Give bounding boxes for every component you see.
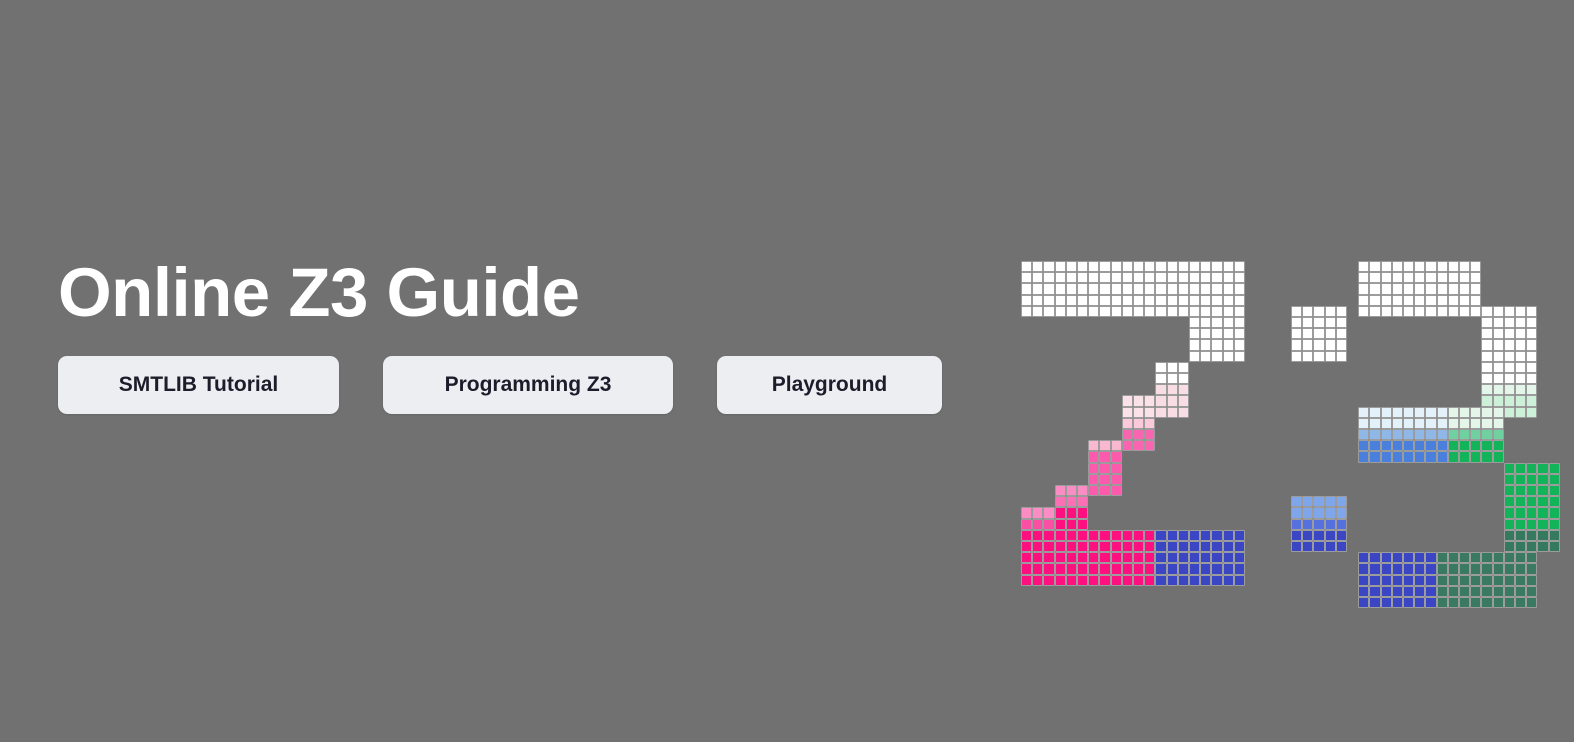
logo-pixel-cell <box>1133 541 1144 552</box>
logo-pixel-cell <box>1493 384 1504 395</box>
logo-pixel-cell <box>1459 597 1470 608</box>
logo-pixel-cell <box>1358 407 1369 418</box>
logo-pixel-cell <box>1178 530 1189 541</box>
logo-pixel-cell <box>1481 440 1492 451</box>
logo-pixel-cell <box>1167 563 1178 574</box>
logo-pixel-cell <box>1200 328 1211 339</box>
logo-pixel-cell <box>1459 261 1470 272</box>
logo-pixel-cell <box>1369 597 1380 608</box>
logo-pixel-cell <box>1021 272 1032 283</box>
logo-pixel-cell <box>1021 575 1032 586</box>
logo-pixel-cell <box>1526 597 1537 608</box>
logo-pixel-cell <box>1448 295 1459 306</box>
logo-pixel-cell <box>1437 451 1448 462</box>
logo-pixel-cell <box>1021 519 1032 530</box>
smtlib-tutorial-button[interactable]: SMTLIB Tutorial <box>58 356 339 414</box>
logo-pixel-cell <box>1470 451 1481 462</box>
logo-pixel-cell <box>1403 575 1414 586</box>
logo-pixel-cell <box>1077 295 1088 306</box>
logo-pixel-cell <box>1493 418 1504 429</box>
logo-pixel-cell <box>1459 283 1470 294</box>
logo-pixel-cell <box>1392 597 1403 608</box>
logo-pixel-cell <box>1178 306 1189 317</box>
logo-pixel-cell <box>1099 440 1110 451</box>
logo-pixel-cell <box>1448 552 1459 563</box>
logo-pixel-cell <box>1515 496 1526 507</box>
logo-pixel-cell <box>1032 563 1043 574</box>
logo-pixel-cell <box>1066 306 1077 317</box>
logo-pixel-cell <box>1043 283 1054 294</box>
logo-pixel-cell <box>1144 429 1155 440</box>
logo-pixel-cell <box>1336 530 1347 541</box>
logo-pixel-cell <box>1066 295 1077 306</box>
logo-pixel-cell <box>1099 272 1110 283</box>
logo-pixel-cell <box>1223 317 1234 328</box>
logo-pixel-cell <box>1437 283 1448 294</box>
logo-pixel-cell <box>1515 485 1526 496</box>
logo-pixel-cell <box>1414 407 1425 418</box>
logo-pixel-cell <box>1111 306 1122 317</box>
logo-pixel-cell <box>1470 440 1481 451</box>
logo-pixel-cell <box>1189 530 1200 541</box>
logo-pixel-cell <box>1481 384 1492 395</box>
logo-pixel-cell <box>1234 295 1245 306</box>
logo-pixel-cell <box>1325 530 1336 541</box>
logo-pixel-cell <box>1414 295 1425 306</box>
logo-pixel-cell <box>1537 530 1548 541</box>
logo-pixel-cell <box>1526 563 1537 574</box>
logo-pixel-cell <box>1032 283 1043 294</box>
logo-pixel-cell <box>1099 451 1110 462</box>
logo-pixel-cell <box>1291 351 1302 362</box>
logo-pixel-cell <box>1155 295 1166 306</box>
logo-pixel-cell <box>1549 496 1560 507</box>
logo-pixel-cell <box>1504 384 1515 395</box>
logo-pixel-cell <box>1425 451 1436 462</box>
logo-pixel-cell <box>1021 306 1032 317</box>
logo-pixel-cell <box>1526 485 1537 496</box>
logo-pixel-cell <box>1403 451 1414 462</box>
logo-pixel-cell <box>1313 541 1324 552</box>
logo-pixel-cell <box>1178 373 1189 384</box>
logo-pixel-cell <box>1470 295 1481 306</box>
logo-pixel-cell <box>1291 328 1302 339</box>
logo-pixel-cell <box>1167 395 1178 406</box>
logo-pixel-cell <box>1526 586 1537 597</box>
logo-pixel-cell <box>1493 597 1504 608</box>
logo-pixel-cell <box>1313 339 1324 350</box>
logo-pixel-cell <box>1088 485 1099 496</box>
logo-pixel-cell <box>1459 440 1470 451</box>
logo-pixel-cell <box>1493 440 1504 451</box>
logo-pixel-cell <box>1313 530 1324 541</box>
logo-pixel-cell <box>1448 272 1459 283</box>
logo-pixel-cell <box>1211 351 1222 362</box>
logo-pixel-cell <box>1504 575 1515 586</box>
logo-pixel-cell <box>1493 451 1504 462</box>
logo-pixel-cell <box>1122 306 1133 317</box>
logo-pixel-cell <box>1302 306 1313 317</box>
logo-pixel-cell <box>1313 351 1324 362</box>
logo-pixel-cell <box>1369 451 1380 462</box>
logo-pixel-cell <box>1414 261 1425 272</box>
logo-pixel-cell <box>1504 485 1515 496</box>
logo-pixel-cell <box>1437 407 1448 418</box>
logo-pixel-cell <box>1358 418 1369 429</box>
logo-pixel-cell <box>1437 295 1448 306</box>
logo-pixel-cell <box>1291 496 1302 507</box>
logo-pixel-cell <box>1369 586 1380 597</box>
logo-pixel-cell <box>1358 295 1369 306</box>
logo-pixel-cell <box>1066 507 1077 518</box>
logo-pixel-cell <box>1448 418 1459 429</box>
logo-pixel-cell <box>1459 306 1470 317</box>
logo-pixel-cell <box>1122 541 1133 552</box>
logo-pixel-cell <box>1381 295 1392 306</box>
logo-pixel-cell <box>1358 440 1369 451</box>
logo-pixel-cell <box>1515 339 1526 350</box>
logo-pixel-cell <box>1369 575 1380 586</box>
logo-pixel-cell <box>1369 407 1380 418</box>
logo-pixel-cell <box>1077 519 1088 530</box>
logo-pixel-cell <box>1403 272 1414 283</box>
logo-pixel-cell <box>1032 272 1043 283</box>
logo-pixel-cell <box>1481 429 1492 440</box>
logo-pixel-cell <box>1414 586 1425 597</box>
logo-pixel-cell <box>1470 586 1481 597</box>
logo-pixel-cell <box>1099 541 1110 552</box>
logo-pixel-cell <box>1336 541 1347 552</box>
logo-pixel-cell <box>1526 541 1537 552</box>
logo-pixel-cell <box>1504 463 1515 474</box>
logo-pixel-cell <box>1504 339 1515 350</box>
logo-pixel-cell <box>1549 507 1560 518</box>
logo-pixel-cell <box>1336 306 1347 317</box>
logo-pixel-cell <box>1088 474 1099 485</box>
logo-pixel-cell <box>1470 429 1481 440</box>
logo-pixel-cell <box>1200 530 1211 541</box>
logo-pixel-cell <box>1133 563 1144 574</box>
logo-pixel-cell <box>1504 351 1515 362</box>
logo-pixel-cell <box>1493 362 1504 373</box>
logo-pixel-cell <box>1099 485 1110 496</box>
logo-pixel-cell <box>1549 541 1560 552</box>
logo-pixel-cell <box>1549 485 1560 496</box>
logo-pixel-cell <box>1302 328 1313 339</box>
logo-pixel-cell <box>1392 283 1403 294</box>
logo-pixel-cell <box>1437 429 1448 440</box>
logo-pixel-cell <box>1178 541 1189 552</box>
logo-pixel-cell <box>1526 530 1537 541</box>
logo-pixel-cell <box>1481 317 1492 328</box>
logo-pixel-cell <box>1381 418 1392 429</box>
logo-pixel-cell <box>1448 451 1459 462</box>
logo-pixel-cell <box>1381 451 1392 462</box>
logo-pixel-cell <box>1133 272 1144 283</box>
logo-pixel-cell <box>1077 530 1088 541</box>
logo-pixel-cell <box>1032 530 1043 541</box>
logo-pixel-cell <box>1392 418 1403 429</box>
logo-pixel-cell <box>1358 306 1369 317</box>
logo-pixel-cell <box>1189 295 1200 306</box>
logo-pixel-cell <box>1099 295 1110 306</box>
logo-pixel-cell <box>1111 563 1122 574</box>
logo-pixel-cell <box>1459 586 1470 597</box>
logo-pixel-cell <box>1155 552 1166 563</box>
logo-pixel-cell <box>1043 575 1054 586</box>
logo-pixel-cell <box>1358 563 1369 574</box>
logo-pixel-cell <box>1526 496 1537 507</box>
logo-pixel-cell <box>1537 519 1548 530</box>
logo-pixel-cell <box>1043 530 1054 541</box>
logo-pixel-cell <box>1437 597 1448 608</box>
logo-pixel-cell <box>1088 463 1099 474</box>
logo-pixel-cell <box>1055 575 1066 586</box>
logo-pixel-cell <box>1055 563 1066 574</box>
logo-pixel-cell <box>1234 328 1245 339</box>
logo-pixel-cell <box>1189 339 1200 350</box>
logo-pixel-cell <box>1481 395 1492 406</box>
logo-pixel-cell <box>1515 328 1526 339</box>
logo-pixel-cell <box>1291 507 1302 518</box>
logo-pixel-cell <box>1032 575 1043 586</box>
logo-pixel-cell <box>1066 261 1077 272</box>
logo-pixel-cell <box>1369 306 1380 317</box>
logo-pixel-cell <box>1470 597 1481 608</box>
logo-pixel-cell <box>1403 440 1414 451</box>
logo-pixel-cell <box>1055 261 1066 272</box>
logo-pixel-cell <box>1381 597 1392 608</box>
logo-pixel-cell <box>1234 575 1245 586</box>
logo-pixel-cell <box>1369 418 1380 429</box>
logo-pixel-cell <box>1526 575 1537 586</box>
logo-pixel-cell <box>1043 507 1054 518</box>
logo-pixel-cell <box>1381 272 1392 283</box>
logo-pixel-cell <box>1526 351 1537 362</box>
logo-pixel-cell <box>1178 384 1189 395</box>
logo-pixel-cell <box>1325 328 1336 339</box>
logo-pixel-cell <box>1437 272 1448 283</box>
logo-pixel-cell <box>1021 541 1032 552</box>
logo-pixel-cell <box>1493 351 1504 362</box>
logo-pixel-cell <box>1111 474 1122 485</box>
logo-pixel-cell <box>1302 530 1313 541</box>
logo-pixel-cell <box>1504 496 1515 507</box>
logo-pixel-cell <box>1155 261 1166 272</box>
logo-pixel-cell <box>1481 597 1492 608</box>
logo-pixel-cell <box>1425 272 1436 283</box>
logo-pixel-cell <box>1189 317 1200 328</box>
logo-pixel-cell <box>1223 261 1234 272</box>
logo-pixel-cell <box>1111 283 1122 294</box>
logo-pixel-cell <box>1122 407 1133 418</box>
page-title: Online Z3 Guide <box>58 258 978 327</box>
logo-pixel-cell <box>1504 474 1515 485</box>
logo-pixel-cell <box>1167 552 1178 563</box>
logo-pixel-cell <box>1200 541 1211 552</box>
logo-pixel-cell <box>1077 306 1088 317</box>
programming-z3-button[interactable]: Programming Z3 <box>383 356 673 414</box>
logo-pixel-cell <box>1515 373 1526 384</box>
logo-pixel-cell <box>1425 295 1436 306</box>
logo-pixel-cell <box>1425 306 1436 317</box>
logo-pixel-cell <box>1437 586 1448 597</box>
playground-button[interactable]: Playground <box>717 356 942 414</box>
logo-pixel-cell <box>1302 317 1313 328</box>
logo-pixel-cell <box>1425 586 1436 597</box>
logo-pixel-cell <box>1133 407 1144 418</box>
logo-pixel-cell <box>1437 261 1448 272</box>
logo-pixel-cell <box>1043 306 1054 317</box>
logo-pixel-cell <box>1448 261 1459 272</box>
logo-pixel-cell <box>1515 384 1526 395</box>
logo-pixel-cell <box>1392 429 1403 440</box>
logo-pixel-cell <box>1414 429 1425 440</box>
logo-pixel-cell <box>1111 272 1122 283</box>
logo-pixel-cell <box>1055 530 1066 541</box>
logo-pixel-cell <box>1336 507 1347 518</box>
logo-pixel-cell <box>1178 552 1189 563</box>
logo-pixel-cell <box>1459 575 1470 586</box>
logo-pixel-cell <box>1392 552 1403 563</box>
logo-pixel-cell <box>1493 373 1504 384</box>
logo-pixel-cell <box>1077 563 1088 574</box>
logo-pixel-cell <box>1392 575 1403 586</box>
logo-pixel-cell <box>1425 407 1436 418</box>
logo-pixel-cell <box>1403 586 1414 597</box>
logo-pixel-cell <box>1167 575 1178 586</box>
logo-pixel-cell <box>1325 507 1336 518</box>
logo-pixel-cell <box>1481 586 1492 597</box>
logo-pixel-cell <box>1211 530 1222 541</box>
logo-pixel-cell <box>1481 552 1492 563</box>
logo-pixel-cell <box>1369 563 1380 574</box>
logo-pixel-cell <box>1122 530 1133 541</box>
logo-pixel-cell <box>1325 339 1336 350</box>
logo-pixel-cell <box>1313 328 1324 339</box>
logo-pixel-cell <box>1111 575 1122 586</box>
logo-pixel-cell <box>1470 418 1481 429</box>
logo-pixel-cell <box>1448 597 1459 608</box>
logo-pixel-cell <box>1189 552 1200 563</box>
logo-pixel-cell <box>1369 295 1380 306</box>
logo-pixel-cell <box>1211 295 1222 306</box>
logo-pixel-cell <box>1403 552 1414 563</box>
logo-pixel-cell <box>1167 373 1178 384</box>
logo-pixel-cell <box>1088 575 1099 586</box>
logo-pixel-cell <box>1403 429 1414 440</box>
logo-pixel-cell <box>1504 306 1515 317</box>
logo-pixel-cell <box>1403 295 1414 306</box>
logo-pixel-cell <box>1403 306 1414 317</box>
logo-pixel-cell <box>1414 552 1425 563</box>
logo-pixel-cell <box>1055 541 1066 552</box>
logo-pixel-cell <box>1133 283 1144 294</box>
logo-pixel-cell <box>1504 597 1515 608</box>
logo-pixel-cell <box>1526 317 1537 328</box>
logo-pixel-cell <box>1425 261 1436 272</box>
logo-pixel-cell <box>1122 395 1133 406</box>
logo-pixel-cell <box>1122 563 1133 574</box>
logo-pixel-cell <box>1099 552 1110 563</box>
logo-pixel-cell <box>1155 395 1166 406</box>
logo-pixel-cell <box>1189 575 1200 586</box>
logo-pixel-cell <box>1155 575 1166 586</box>
logo-pixel-cell <box>1504 373 1515 384</box>
logo-pixel-cell <box>1144 272 1155 283</box>
logo-pixel-cell <box>1189 541 1200 552</box>
logo-pixel-cell <box>1313 317 1324 328</box>
logo-pixel-cell <box>1066 530 1077 541</box>
logo-pixel-cell <box>1133 395 1144 406</box>
logo-pixel-cell <box>1223 530 1234 541</box>
logo-pixel-cell <box>1358 586 1369 597</box>
logo-pixel-cell <box>1099 463 1110 474</box>
logo-pixel-cell <box>1122 429 1133 440</box>
logo-pixel-cell <box>1144 440 1155 451</box>
logo-pixel-cell <box>1133 440 1144 451</box>
logo-pixel-cell <box>1066 272 1077 283</box>
logo-pixel-cell <box>1392 261 1403 272</box>
logo-pixel-cell <box>1392 586 1403 597</box>
logo-pixel-cell <box>1437 575 1448 586</box>
logo-pixel-cell <box>1122 552 1133 563</box>
logo-pixel-cell <box>1200 552 1211 563</box>
logo-pixel-cell <box>1200 295 1211 306</box>
logo-pixel-cell <box>1515 463 1526 474</box>
logo-pixel-cell <box>1549 463 1560 474</box>
logo-pixel-cell <box>1481 373 1492 384</box>
logo-pixel-cell <box>1325 496 1336 507</box>
logo-pixel-cell <box>1392 563 1403 574</box>
logo-pixel-cell <box>1392 272 1403 283</box>
logo-pixel-cell <box>1504 395 1515 406</box>
logo-pixel-cell <box>1537 485 1548 496</box>
logo-pixel-cell <box>1189 261 1200 272</box>
logo-pixel-cell <box>1313 519 1324 530</box>
logo-pixel-cell <box>1088 272 1099 283</box>
logo-pixel-cell <box>1369 283 1380 294</box>
logo-pixel-cell <box>1515 597 1526 608</box>
logo-pixel-cell <box>1122 272 1133 283</box>
logo-pixel-cell <box>1425 563 1436 574</box>
logo-pixel-cell <box>1414 563 1425 574</box>
logo-pixel-cell <box>1144 575 1155 586</box>
logo-pixel-cell <box>1200 317 1211 328</box>
logo-pixel-cell <box>1526 395 1537 406</box>
logo-pixel-cell <box>1200 351 1211 362</box>
logo-pixel-cell <box>1167 407 1178 418</box>
logo-pixel-cell <box>1077 507 1088 518</box>
logo-pixel-cell <box>1481 306 1492 317</box>
logo-pixel-cell <box>1077 496 1088 507</box>
logo-pixel-cell <box>1055 507 1066 518</box>
logo-pixel-cell <box>1504 530 1515 541</box>
logo-pixel-cell <box>1211 261 1222 272</box>
logo-pixel-cell <box>1481 418 1492 429</box>
logo-pixel-cell <box>1144 552 1155 563</box>
logo-pixel-cell <box>1537 507 1548 518</box>
logo-pixel-cell <box>1537 541 1548 552</box>
logo-pixel-cell <box>1414 597 1425 608</box>
logo-pixel-cell <box>1077 552 1088 563</box>
logo-pixel-cell <box>1504 586 1515 597</box>
logo-pixel-cell <box>1302 339 1313 350</box>
logo-pixel-cell <box>1032 541 1043 552</box>
logo-pixel-cell <box>1448 283 1459 294</box>
logo-pixel-cell <box>1088 552 1099 563</box>
logo-pixel-cell <box>1414 575 1425 586</box>
